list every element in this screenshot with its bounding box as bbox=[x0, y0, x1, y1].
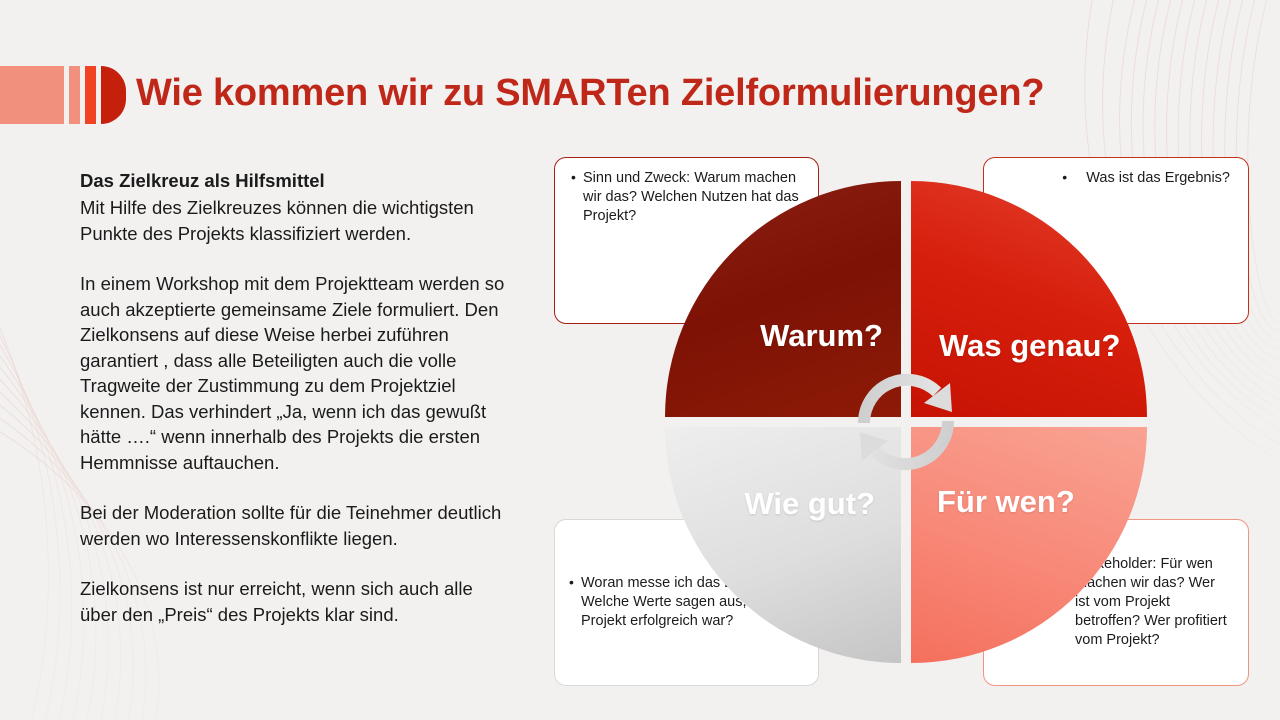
quadrant-wie-gut-label: Wie gut? bbox=[744, 485, 875, 523]
page-title: Wie kommen wir zu SMARTen Zielformulieru… bbox=[136, 72, 1044, 115]
left-paragraph-4: Zielkonsens ist nur erreicht, wenn sich … bbox=[80, 576, 505, 627]
left-paragraph-3: Bei der Moderation sollte für die Teineh… bbox=[80, 500, 505, 551]
quadrant-wie-gut[interactable]: Wie gut? bbox=[665, 427, 901, 663]
quadrant-warum[interactable]: Warum? bbox=[665, 181, 901, 417]
left-text-column: Das Zielkreuz als Hilfsmittel Mit Hilfe … bbox=[80, 168, 505, 627]
logo-d-shape bbox=[101, 66, 126, 124]
slide-canvas: Wie kommen wir zu SMARTen Zielformulieru… bbox=[0, 0, 1280, 720]
left-column-heading: Das Zielkreuz als Hilfsmittel bbox=[80, 168, 505, 194]
quadrant-fuer-wen-label: Für wen? bbox=[937, 483, 1075, 521]
zielkreuz-wheel: Warum? Was genau? Wie gut? Für wen? bbox=[665, 181, 1147, 663]
logo-bar-mid bbox=[85, 66, 96, 124]
logo-bar-wide bbox=[0, 66, 64, 124]
paragraph-spacer-3 bbox=[80, 551, 505, 576]
quadrant-was-genau-label: Was genau? bbox=[939, 327, 1120, 365]
left-paragraph-2: In einem Workshop mit dem Projektteam we… bbox=[80, 271, 505, 475]
quadrant-fuer-wen[interactable]: Für wen? bbox=[911, 427, 1147, 663]
paragraph-spacer-2 bbox=[80, 475, 505, 500]
logo-bar-thin bbox=[69, 66, 80, 124]
left-paragraph-1: Mit Hilfe des Zielkreuzes können die wic… bbox=[80, 195, 505, 246]
quadrant-was-genau[interactable]: Was genau? bbox=[911, 181, 1147, 417]
quadrant-warum-label: Warum? bbox=[760, 317, 883, 355]
paragraph-spacer-1 bbox=[80, 246, 505, 271]
brand-logo bbox=[0, 66, 126, 124]
